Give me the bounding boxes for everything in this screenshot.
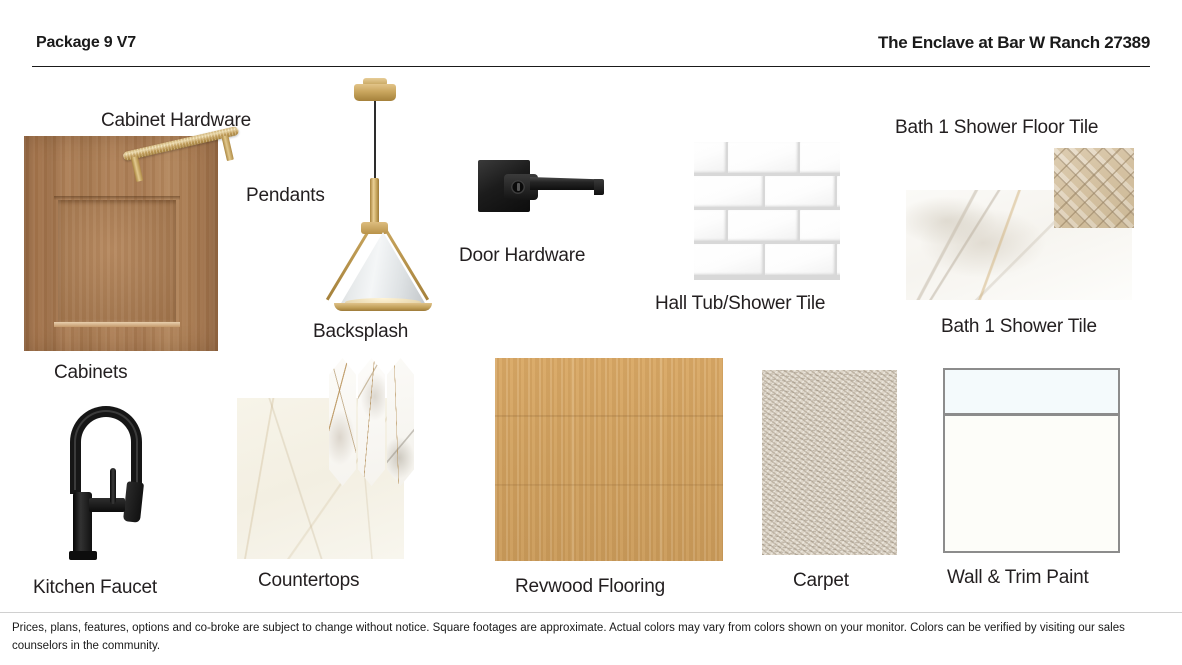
swatch-backsplash[interactable]: [329, 358, 415, 486]
label-hall-tub-shower-tile: Hall Tub/Shower Tile: [655, 293, 825, 315]
keyhole-icon: [511, 180, 525, 194]
subway-tile-unit: [728, 142, 798, 173]
pendant-cord: [374, 101, 376, 181]
picket-tile-unit: [387, 358, 414, 486]
label-backsplash: Backsplash: [313, 321, 408, 343]
label-carpet: Carpet: [793, 570, 849, 592]
faucet-sprayer-head: [123, 481, 144, 523]
faucet-lever-handle: [110, 468, 116, 504]
label-bath1-shower-tile: Bath 1 Shower Tile: [941, 316, 1097, 338]
pull-post-left: [131, 156, 143, 182]
subway-tile-unit: [800, 142, 840, 173]
cabinet-rail-shadow: [54, 196, 180, 200]
swatch-bath1-shower-floor-tile[interactable]: [1054, 148, 1134, 228]
picket-tile-unit: [329, 358, 356, 486]
door-lever-tip: [594, 179, 604, 195]
faucet-valve-hub: [89, 498, 125, 512]
cabinet-panel-bevel: [54, 322, 180, 327]
label-revwood-flooring: Revwood Flooring: [515, 576, 665, 598]
faucet-arc-highlight: [74, 410, 138, 490]
subway-tile-unit: [694, 244, 763, 275]
swatch-carpet[interactable]: [762, 370, 897, 555]
subway-tile-unit: [694, 176, 763, 207]
label-countertops: Countertops: [258, 570, 359, 592]
label-wall-trim-paint: Wall & Trim Paint: [947, 567, 1089, 589]
subway-tile-unit: [837, 176, 840, 207]
pendant-yoke: [361, 222, 388, 234]
page-header: Package 9 V7 The Enclave at Bar W Ranch …: [0, 0, 1182, 70]
subway-tile-unit: [800, 210, 840, 241]
swatch-wall-trim-paint[interactable]: [943, 368, 1120, 553]
door-lever-handle: [530, 177, 602, 190]
subway-tile-unit: [694, 210, 726, 241]
swatch-pendant-light[interactable]: [325, 84, 440, 309]
pendant-brass-rim: [334, 303, 432, 311]
label-cabinets: Cabinets: [54, 362, 127, 384]
paint-trim-band: [945, 370, 1118, 416]
community-title: The Enclave at Bar W Ranch 27389: [878, 33, 1150, 53]
pull-post-right: [221, 135, 233, 161]
label-kitchen-faucet: Kitchen Faucet: [33, 577, 157, 599]
faucet-base-plate: [69, 551, 97, 560]
swatch-hall-tub-shower-tile[interactable]: [694, 142, 840, 280]
swatch-kitchen-faucet[interactable]: [62, 406, 172, 558]
footer-divider: [0, 612, 1182, 613]
package-title: Package 9 V7: [36, 34, 136, 52]
swatch-revwood-flooring[interactable]: [495, 358, 723, 561]
subway-tile-unit: [728, 210, 798, 241]
pendant-stem: [370, 178, 379, 228]
subway-tile-unit: [765, 176, 835, 207]
header-divider: [32, 66, 1150, 67]
legal-disclaimer: Prices, plans, features, options and co-…: [12, 620, 1172, 656]
subway-tile-unit: [694, 142, 726, 173]
label-door-hardware: Door Hardware: [459, 245, 585, 267]
label-bath1-shower-floor-tile: Bath 1 Shower Floor Tile: [895, 117, 1098, 139]
picket-tile-unit: [358, 358, 385, 486]
subway-tile-unit: [837, 244, 840, 275]
label-pendants: Pendants: [246, 185, 325, 207]
pendant-canopy: [354, 84, 396, 101]
cabinet-center-panel: [58, 200, 176, 324]
subway-tile-unit: [765, 244, 835, 275]
swatch-door-hardware[interactable]: [478, 160, 608, 232]
